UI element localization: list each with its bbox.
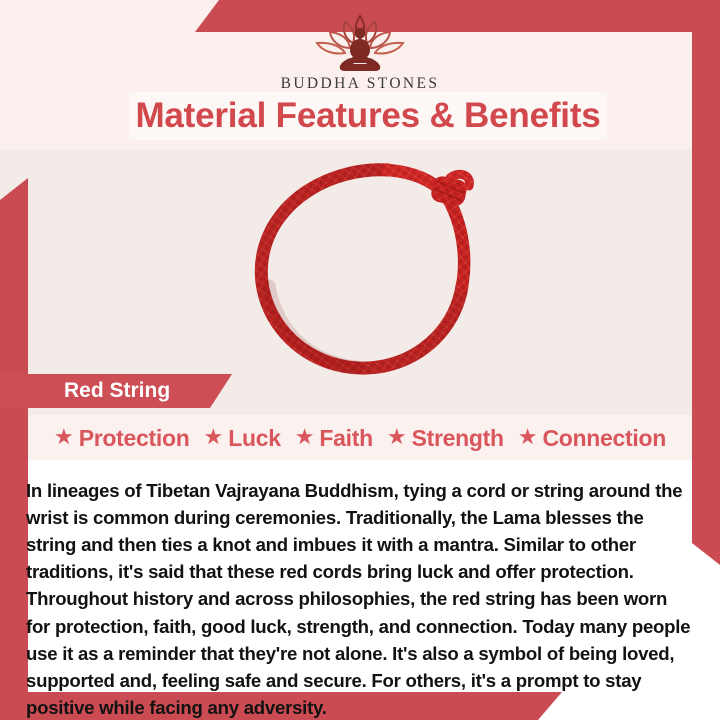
frame-bar-left (0, 178, 28, 720)
keyword-item-connection: ★ Connection (512, 425, 672, 452)
keyword-label: Luck (228, 425, 280, 452)
star-icon: ★ (295, 426, 315, 448)
page-title: Material Features & Benefits (135, 96, 600, 136)
product-image (236, 158, 494, 380)
poster-canvas: BUDDHA STONES Material Features & Benefi… (0, 0, 720, 720)
section-ribbon-red-string: Red String (0, 374, 232, 408)
description-paragraph: In lineages of Tibetan Vajrayana Buddhis… (26, 477, 696, 720)
keyword-label: Strength (412, 425, 504, 452)
star-icon: ★ (518, 426, 538, 448)
keyword-item-luck: ★ Luck (197, 425, 286, 452)
ribbon-label: Red String (64, 379, 170, 403)
keyword-item-faith: ★ Faith (289, 425, 379, 452)
keyword-label: Faith (319, 425, 372, 452)
brand-name: BUDDHA STONES (281, 75, 440, 93)
keyword-label: Protection (79, 425, 190, 452)
lotus-meditation-icon (301, 12, 419, 72)
title-banner: Material Features & Benefits (129, 92, 607, 140)
keyword-list: ★ Protection ★ Luck ★ Faith ★ Strength ★… (28, 420, 692, 456)
keyword-item-protection: ★ Protection (48, 425, 195, 452)
star-icon: ★ (387, 426, 407, 448)
brand-logo: BUDDHA STONES (0, 12, 720, 93)
keyword-label: Connection (543, 425, 667, 452)
star-icon: ★ (203, 426, 223, 448)
keyword-item-strength: ★ Strength (381, 425, 510, 452)
star-icon: ★ (54, 426, 74, 448)
